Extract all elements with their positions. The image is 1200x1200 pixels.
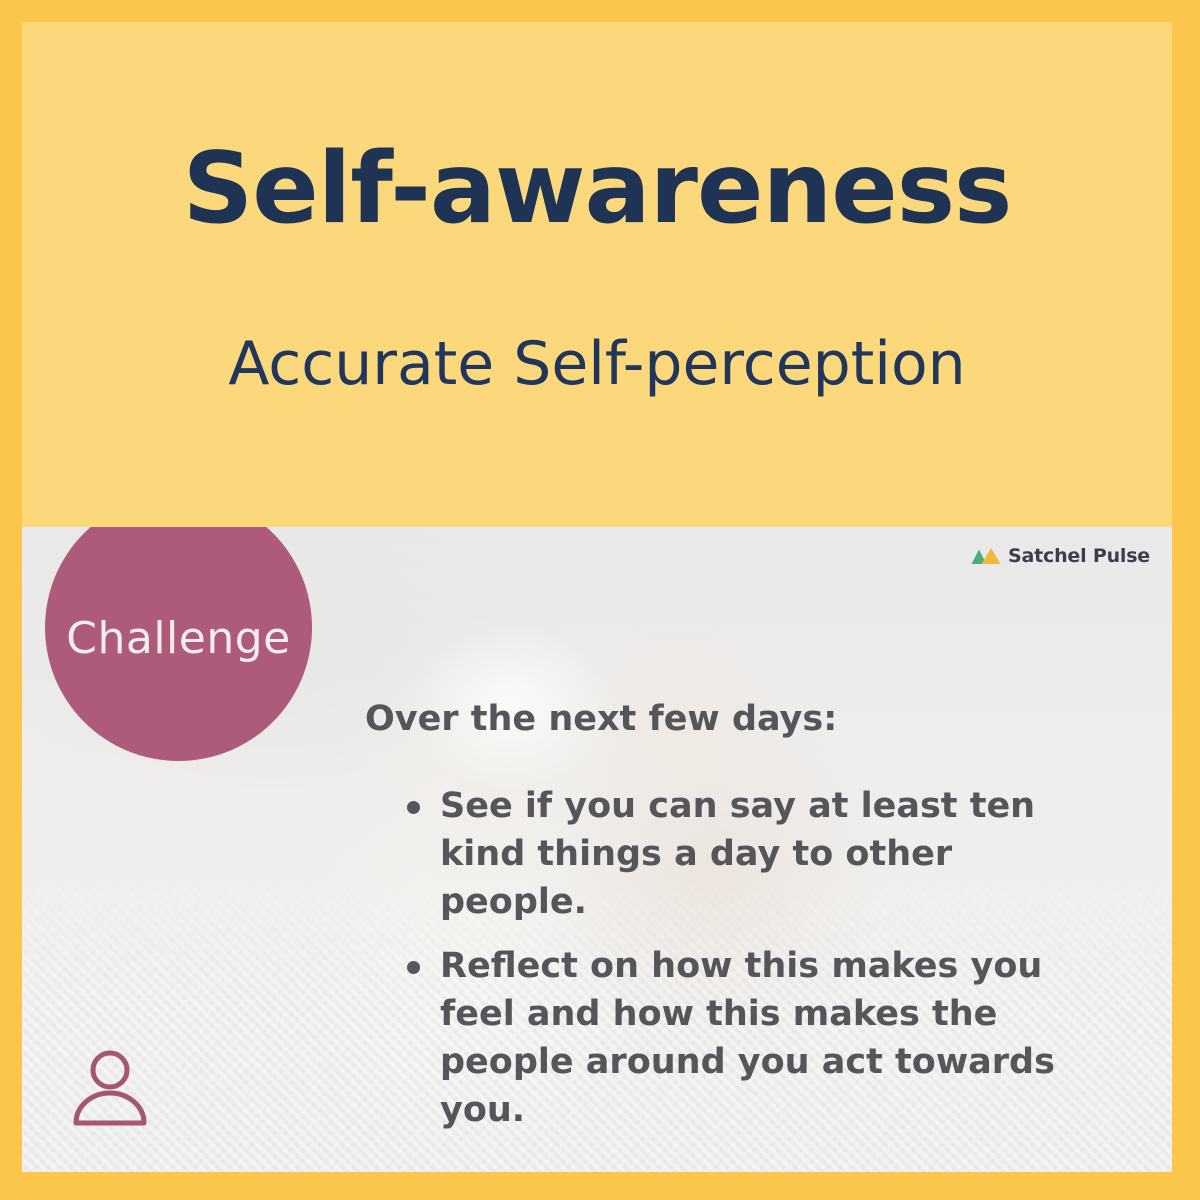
brand-logo: Satchel Pulse: [971, 547, 1150, 566]
self-awareness-challenge-card: Self-awareness Accurate Self-perception …: [0, 0, 1200, 1200]
photo-panel: Challenge Satchel Pulse Over the next fe…: [22, 527, 1172, 1172]
list-item: Reflect on how this makes you feel and h…: [365, 943, 1105, 1135]
challenge-badge-label: Challenge: [66, 617, 290, 661]
person-icon: [67, 1044, 153, 1130]
list-item: See if you can say at least ten kind thi…: [365, 783, 1105, 927]
bullet-dot-icon: [407, 961, 420, 974]
challenge-bullet-list: See if you can say at least ten kind thi…: [365, 783, 1105, 1135]
list-item-label: Reflect on how this makes you feel and h…: [440, 946, 1055, 1130]
mountain-peaks-icon: [971, 547, 1001, 566]
bullet-dot-icon: [407, 801, 420, 814]
header-panel: Self-awareness Accurate Self-perception: [22, 22, 1172, 527]
list-item-label: See if you can say at least ten kind thi…: [440, 786, 1035, 922]
brand-name: Satchel Pulse: [1008, 547, 1150, 566]
challenge-heading: Over the next few days:: [365, 699, 1105, 739]
page-title: Self-awareness: [22, 140, 1172, 238]
challenge-content: Over the next few days: See if you can s…: [365, 699, 1105, 1135]
page-subtitle: Accurate Self-perception: [22, 334, 1172, 394]
